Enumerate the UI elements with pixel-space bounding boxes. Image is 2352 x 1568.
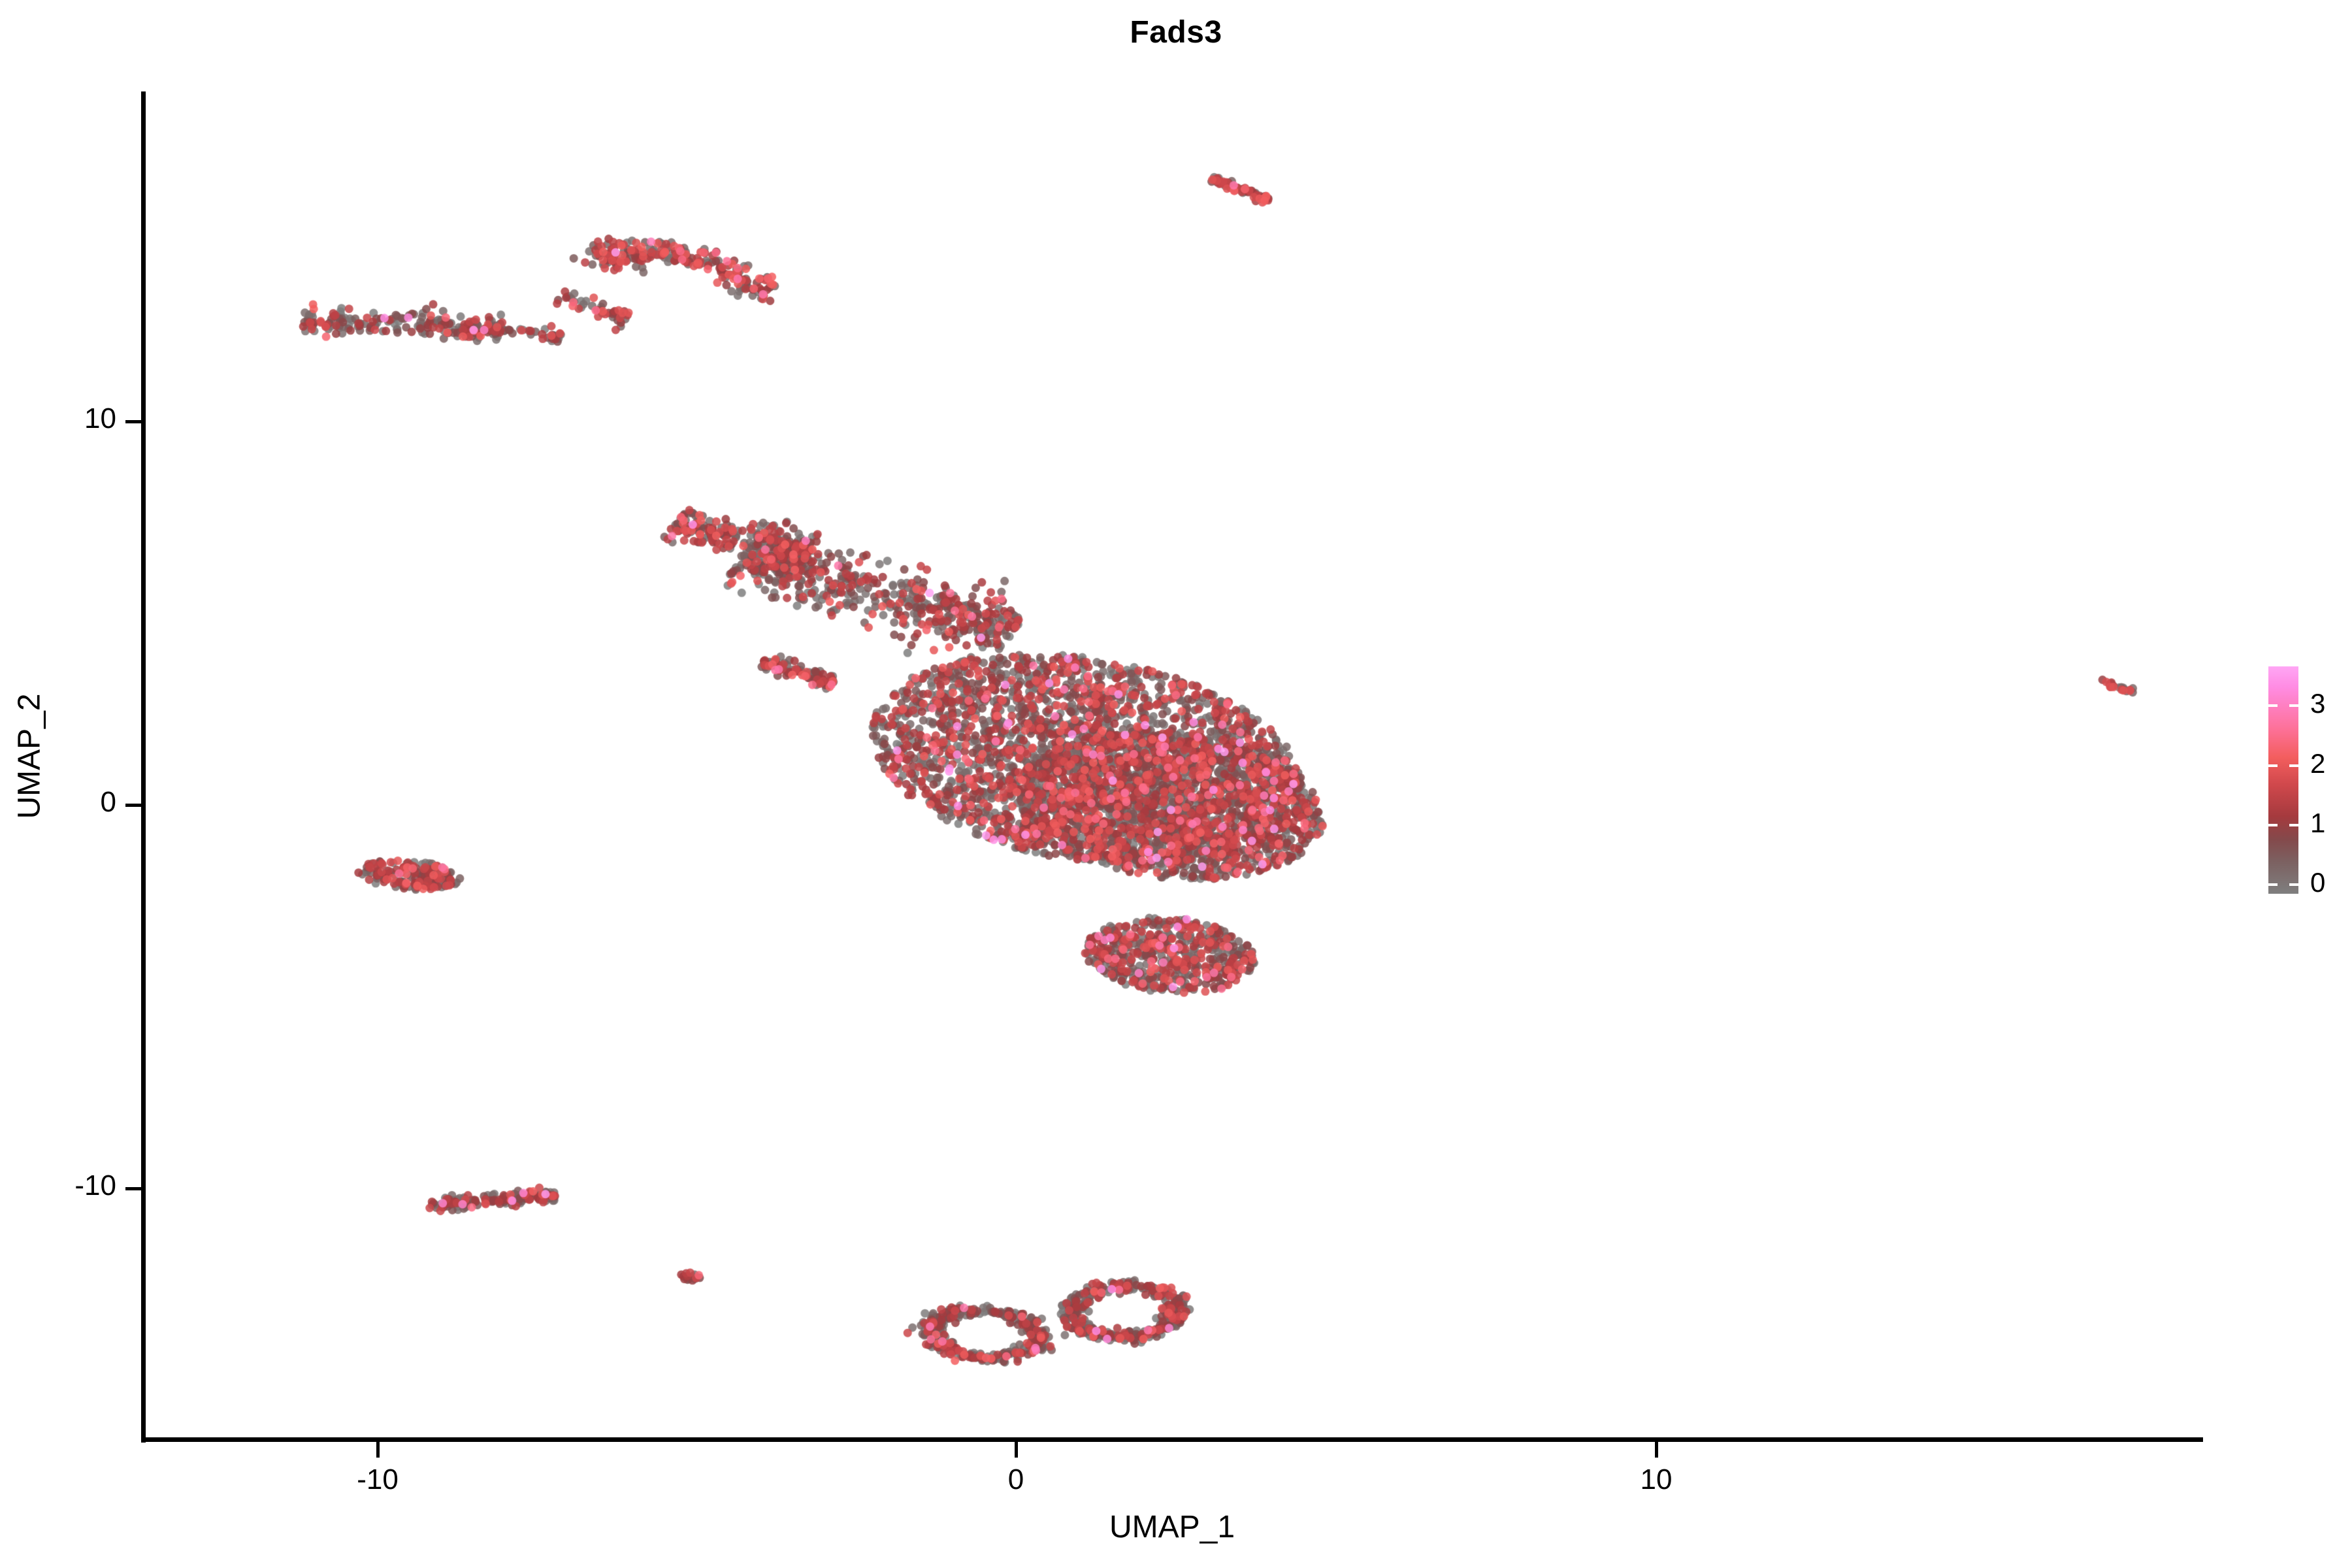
y-tick-label-neg10: -10	[0, 1169, 116, 1202]
colorbar-legend[interactable]: 3 2 1 0	[2268, 666, 2347, 902]
colorbar-tick-3-left	[2268, 704, 2278, 707]
y-tick-mark-10	[125, 420, 141, 423]
colorbar-label-2: 2	[2310, 748, 2349, 779]
page-title: Fads3	[0, 14, 2352, 50]
x-axis-line	[141, 1437, 2203, 1442]
colorbar-label-3: 3	[2310, 688, 2349, 719]
plot-panel[interactable]	[144, 91, 2203, 1440]
colorbar-gradient	[2268, 666, 2298, 894]
x-tick-mark-10	[1655, 1442, 1658, 1458]
x-tick-mark-0	[1015, 1442, 1018, 1458]
colorbar-tick-3-right	[2289, 704, 2298, 707]
y-axis-title: UMAP_2	[12, 495, 48, 1018]
colorbar-tick-2-left	[2268, 764, 2278, 767]
x-tick-label-10: 10	[1591, 1463, 1722, 1496]
colorbar-tick-1-left	[2268, 824, 2278, 826]
colorbar-tick-0-left	[2268, 883, 2278, 886]
colorbar-tick-0-right	[2289, 883, 2298, 886]
y-axis-line	[141, 91, 146, 1443]
x-tick-label-0: 0	[951, 1463, 1081, 1496]
colorbar-label-1: 1	[2310, 808, 2349, 839]
x-axis-title: UMAP_1	[141, 1509, 2203, 1545]
x-tick-label-neg10: -10	[312, 1463, 443, 1496]
y-tick-mark-0	[125, 804, 141, 807]
umap-feature-plot: Fads3 -10 0 10 10 0 -10 UMAP_1 UMAP_2 3 …	[0, 0, 2352, 1568]
x-tick-mark-neg10	[376, 1442, 380, 1458]
colorbar-label-0: 0	[2310, 867, 2349, 898]
y-tick-label-10: 10	[0, 402, 116, 435]
colorbar-tick-1-right	[2289, 824, 2298, 826]
colorbar-tick-2-right	[2289, 764, 2298, 767]
y-tick-mark-neg10	[125, 1187, 141, 1190]
scatter-canvas[interactable]	[144, 91, 2203, 1440]
